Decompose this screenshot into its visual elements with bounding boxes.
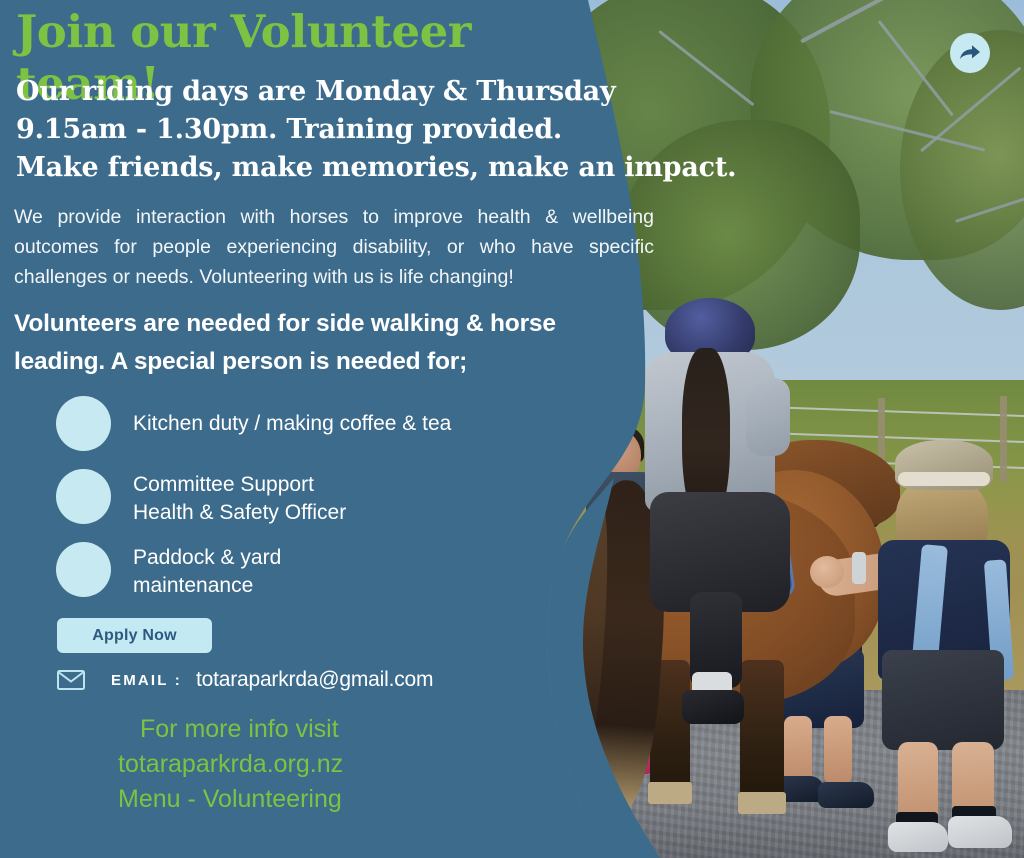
footer-line: Menu - Volunteering xyxy=(118,782,343,817)
list-item: Committee Support Health & Safety Office… xyxy=(56,469,576,542)
callout-line: leading. A special person is needed for; xyxy=(14,343,639,381)
share-arrow-icon xyxy=(959,43,981,63)
callout-text: Volunteers are needed for side walking &… xyxy=(14,305,639,381)
poster-content: Join our Volunteer team! Our riding days… xyxy=(0,0,600,858)
footer-line: For more info visit xyxy=(118,712,343,747)
list-item: Paddock & yard maintenance xyxy=(56,542,576,615)
subtitle-line: 9.15am - 1.30pm. Training provided. xyxy=(16,111,616,149)
role-line: maintenance xyxy=(133,572,281,600)
roles-list: Kitchen duty / making coffee & tea Commi… xyxy=(56,396,576,615)
role-line: Paddock & yard xyxy=(133,544,281,572)
role-line: Committee Support xyxy=(133,471,346,499)
volunteer-poster: Join our Volunteer team! Our riding days… xyxy=(0,0,1024,858)
share-button[interactable] xyxy=(950,33,990,73)
bullet-dot-icon xyxy=(56,542,111,597)
role-text: Kitchen duty / making coffee & tea xyxy=(133,410,451,438)
subtitle-line: Our riding days are Monday & Thursday xyxy=(16,73,616,111)
intro-paragraph: We provide interaction with horses to im… xyxy=(14,202,654,292)
callout-line: Volunteers are needed for side walking &… xyxy=(14,305,639,343)
role-text: Committee Support Health & Safety Office… xyxy=(133,471,346,527)
envelope-icon xyxy=(57,670,85,690)
list-item: Kitchen duty / making coffee & tea xyxy=(56,396,576,469)
bullet-dot-icon xyxy=(56,396,111,451)
poster-subtitle: Our riding days are Monday & Thursday 9.… xyxy=(16,73,616,187)
email-address[interactable]: totaraparkrda@gmail.com xyxy=(196,668,433,692)
subtitle-line: Make friends, make memories, make an imp… xyxy=(16,149,616,187)
bullet-dot-icon xyxy=(56,469,111,524)
role-line: Kitchen duty / making coffee & tea xyxy=(133,410,451,438)
apply-now-button[interactable]: Apply Now xyxy=(57,618,212,653)
role-text: Paddock & yard maintenance xyxy=(133,544,281,600)
role-line: Health & Safety Officer xyxy=(133,499,346,527)
email-label: EMAIL : xyxy=(111,672,182,689)
footer-info: For more info visit totaraparkrda.org.nz… xyxy=(118,712,343,817)
paragraph-line: We provide interaction with horses to im… xyxy=(14,202,654,232)
website-link[interactable]: totaraparkrda.org.nz xyxy=(118,747,343,782)
email-row: EMAIL : totaraparkrda@gmail.com xyxy=(57,668,433,692)
paragraph-line: outcomes for people experiencing disabil… xyxy=(14,232,654,262)
paragraph-line: challenges or needs. Volunteering with u… xyxy=(14,262,654,292)
